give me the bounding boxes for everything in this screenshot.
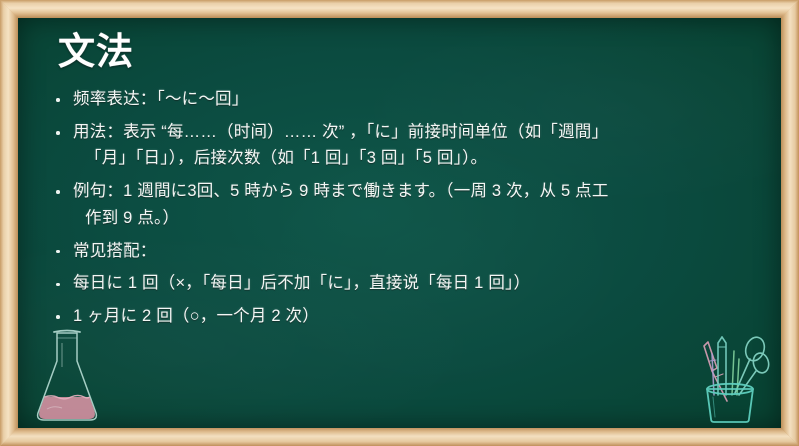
list-item-ikkagetsu: 1 ヶ月に 2 回（○，一个月 2 次） (51, 303, 751, 330)
frame-bottom-edge (0, 428, 799, 446)
bullet-dot-icon (56, 283, 60, 287)
slide-root: 文法 频率表达：「～に～回」 用法：表示 “每……（时间）…… 次” ，「に」前… (0, 0, 799, 446)
bullet-text: 例句：1 週間に3回、5 時から 9 時まで働きます。（一周 3 次，从 5 点… (73, 178, 751, 231)
bullet-line-1: 例句：1 週間に3回、5 時から 9 時まで働きます。（一周 3 次，从 5 点… (73, 182, 609, 200)
list-item-frequency-pattern: 频率表达：「～に～回」 (51, 86, 751, 113)
bullet-text: 1 ヶ月に 2 回（○，一个月 2 次） (73, 303, 751, 330)
bullet-list: 频率表达：「～に～回」 用法：表示 “每……（时间）…… 次” ，「に」前接时间… (51, 86, 751, 336)
bullet-text: 常见搭配： (73, 238, 751, 265)
bullet-text: 每日に 1 回（×，「每日」后不加「に」，直接说「每日 1 回」） (73, 270, 751, 297)
pen-cup-icon (677, 321, 777, 426)
frame-right-edge (781, 0, 799, 446)
bullet-dot-icon (56, 190, 60, 194)
list-item-mainichi: 每日に 1 回（×，「每日」后不加「に」，直接说「每日 1 回」） (51, 270, 751, 297)
list-item-example: 例句：1 週間に3回、5 時から 9 時まで働きます。（一周 3 次，从 5 点… (51, 178, 751, 231)
flask-icon (24, 321, 114, 426)
bullet-line-1: 用法：表示 “每……（时间）…… 次” ，「に」前接时间单位（如「週間」 (73, 123, 608, 141)
list-item-usage: 用法：表示 “每……（时间）…… 次” ，「に」前接时间单位（如「週間」 「月」… (51, 119, 751, 172)
bullet-dot-icon (56, 250, 60, 254)
frame-top-edge (0, 0, 799, 18)
list-item-common-collocations: 常见搭配： (51, 238, 751, 265)
bullet-dot-icon (56, 131, 60, 135)
bullet-dot-icon (56, 315, 60, 319)
blackboard: 文法 频率表达：「～に～回」 用法：表示 “每……（时间）…… 次” ，「に」前… (18, 18, 781, 428)
bullet-line-2: 作到 9 点。） (73, 205, 751, 232)
bullet-dot-icon (56, 98, 60, 102)
bullet-text: 频率表达：「～に～回」 (73, 86, 751, 113)
bullet-text: 用法：表示 “每……（时间）…… 次” ，「に」前接时间单位（如「週間」 「月」… (73, 119, 751, 172)
bullet-line-2: 「月」「日」），后接次数（如「1 回」「3 回」「5 回」）。 (73, 145, 751, 172)
page-title: 文法 (58, 32, 134, 73)
flask-liquid (39, 397, 95, 419)
frame-left-edge (0, 0, 18, 446)
